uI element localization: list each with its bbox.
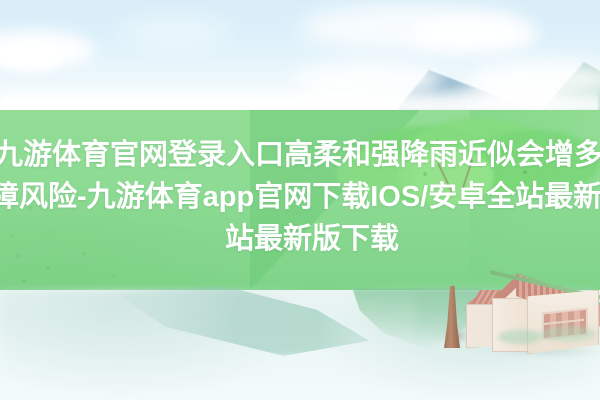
illustration-banner: 九游体育官网登录入口高柔和强降雨近似会增多开发 障风险-九游体育app官网下载I… [0,0,600,400]
shrub [498,330,542,344]
shrub [540,326,596,342]
tree-leaf-texture [350,120,600,210]
cloud-shape [120,18,230,44]
house [466,268,600,358]
cloud-shape [408,18,538,52]
horizon-haze [0,86,600,112]
house-side-wall [492,298,530,352]
